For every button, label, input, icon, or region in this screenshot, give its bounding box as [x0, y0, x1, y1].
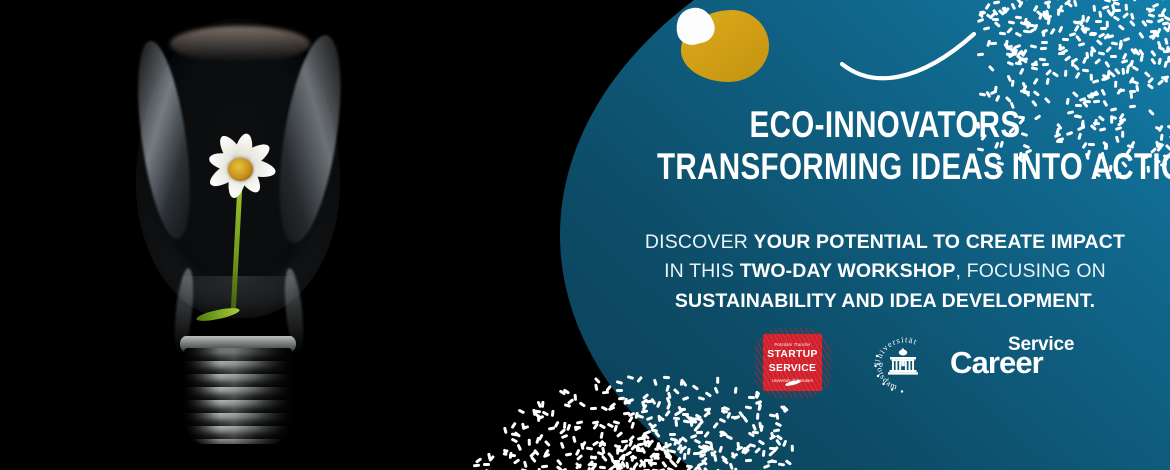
texture-dash — [993, 0, 1000, 4]
texture-dash — [1164, 37, 1168, 44]
headline-line-1: ECO-INNOVATORS — [657, 104, 1113, 146]
texture-dash — [1114, 67, 1120, 74]
texture-dash — [1132, 79, 1139, 84]
university-potsdam-seal: Universität Potsdam — [868, 328, 938, 398]
texture-dash — [1084, 27, 1088, 34]
texture-dash — [1007, 74, 1012, 81]
texture-dash — [1100, 89, 1105, 96]
subtext-line-2: IN THIS TWO-DAY WORKSHOP, FOCUSING ON — [600, 257, 1170, 286]
startup-service-logo: Potsdam Transfer STARTUP SERVICE Univers… — [755, 328, 831, 398]
texture-dash — [1053, 0, 1060, 1]
texture-dash — [616, 389, 623, 392]
texture-dash — [985, 3, 991, 10]
startup-logo-top-line: Potsdam Transfer — [763, 342, 822, 347]
headline-block: ECO-INNOVATORS TRANSFORMING IDEAS INTO A… — [600, 104, 1170, 188]
texture-dash — [1092, 92, 1099, 96]
texture-dash — [1157, 40, 1162, 47]
texture-dash — [1052, 71, 1059, 77]
texture-dash — [1073, 0, 1077, 7]
texture-dash — [1010, 3, 1015, 10]
texture-dash — [1124, 4, 1127, 11]
texture-dash — [1099, 11, 1103, 18]
promo-banner: ECO-INNOVATORS TRANSFORMING IDEAS INTO A… — [0, 0, 1170, 470]
texture-dash — [1078, 42, 1085, 46]
texture-dash — [995, 94, 1000, 101]
texture-dash — [1041, 41, 1048, 44]
texture-dash — [1163, 60, 1167, 67]
texture-dash — [1151, 33, 1155, 40]
texture-dash — [1147, 13, 1154, 17]
texture-dash — [1015, 16, 1022, 19]
texture-dash — [1165, 45, 1168, 52]
texture-dash — [1109, 71, 1116, 78]
texture-dash — [541, 464, 548, 467]
texture-dash — [1042, 63, 1049, 66]
texture-dash — [758, 403, 761, 410]
texture-dash — [990, 42, 997, 45]
subtext-line-3: SUSTAINABILITY AND IDEA DEVELOPMENT. — [600, 287, 1170, 316]
texture-dash — [1064, 69, 1067, 76]
texture-dash — [1138, 31, 1144, 38]
texture-dash — [1147, 77, 1154, 84]
texture-dash — [663, 375, 670, 378]
texture-dash — [683, 452, 686, 459]
subtext-line-1: DISCOVER YOUR POTENTIAL TO CREATE IMPACT — [600, 228, 1170, 257]
texture-dash — [1114, 9, 1121, 12]
texture-dash — [1090, 74, 1093, 81]
texture-dash — [1085, 16, 1090, 23]
subtext-l1-regular: DISCOVER — [645, 231, 754, 253]
lightbulb-illustration — [118, 18, 358, 448]
subtext-block: DISCOVER YOUR POTENTIAL TO CREATE IMPACT… — [600, 228, 1170, 316]
texture-dash — [745, 405, 752, 409]
texture-dash — [733, 386, 736, 393]
texture-dash — [1130, 0, 1137, 2]
texture-dash — [1026, 21, 1029, 28]
startup-logo-main-line-1: STARTUP — [763, 349, 822, 361]
logo-row: Potsdam Transfer STARTUP SERVICE Univers… — [745, 326, 1105, 400]
texture-dash — [696, 430, 703, 433]
texture-dash — [639, 437, 646, 440]
startup-logo-card: Potsdam Transfer STARTUP SERVICE Univers… — [763, 334, 822, 391]
texture-dash — [1094, 58, 1101, 65]
texture-dash — [1049, 27, 1055, 34]
career-service-logo: Service Career — [950, 332, 1105, 388]
texture-dash — [977, 53, 984, 56]
texture-dash — [1157, 57, 1161, 64]
texture-dash — [1158, 14, 1165, 17]
texture-dash — [1073, 24, 1079, 31]
texture-dash — [1093, 4, 1096, 11]
subtext-l2-tail: , FOCUSING ON — [956, 260, 1106, 282]
texture-dash — [1122, 12, 1129, 19]
texture-dash — [1081, 57, 1086, 64]
texture-dash — [1151, 49, 1157, 56]
texture-dash — [1075, 72, 1081, 79]
texture-dash — [977, 17, 984, 22]
texture-dash — [1100, 27, 1107, 30]
texture-dash — [1131, 12, 1135, 19]
texture-dash — [1044, 97, 1051, 104]
texture-dash — [1072, 91, 1079, 98]
texture-dash — [1113, 15, 1120, 21]
texture-dash — [1007, 61, 1014, 66]
texture-dash — [999, 32, 1006, 36]
career-service-word-main: Career — [950, 345, 1043, 381]
texture-dash — [1118, 24, 1125, 30]
subtext-l1-bold: YOUR POTENTIAL TO CREATE IMPACT — [754, 231, 1126, 253]
texture-dash — [1090, 32, 1097, 35]
texture-dash — [988, 65, 995, 72]
subtext-l2-bold: TWO-DAY WORKSHOP — [740, 260, 956, 282]
texture-dash — [994, 21, 1001, 28]
texture-dash — [483, 463, 490, 466]
texture-dash — [1146, 20, 1153, 24]
texture-dash — [1152, 3, 1159, 8]
texture-dash — [1074, 64, 1081, 71]
texture-dash — [1093, 99, 1100, 102]
texture-dash — [1014, 31, 1021, 36]
texture-dash — [1095, 19, 1102, 22]
texture-dash — [1018, 67, 1024, 74]
texture-dash — [1114, 80, 1117, 87]
subtext-l2-regular: IN THIS — [664, 260, 740, 282]
texture-dash — [716, 377, 719, 384]
texture-dash — [1046, 78, 1050, 85]
texture-dash — [1122, 68, 1125, 75]
texture-dash — [990, 90, 997, 95]
texture-dash — [1157, 79, 1164, 85]
texture-dash — [1040, 47, 1047, 50]
texture-dash — [551, 409, 554, 416]
texture-dash — [1014, 44, 1021, 49]
bulb-glass-highlight — [170, 26, 310, 62]
texture-dash — [1123, 37, 1130, 42]
texture-dash — [1023, 30, 1030, 34]
texture-dash — [1033, 90, 1040, 96]
headline-line-2: TRANSFORMING IDEAS INTO ACTION — [657, 146, 1113, 188]
texture-dash — [1057, 9, 1060, 16]
texture-dash — [1058, 52, 1065, 55]
texture-dash — [791, 445, 794, 452]
texture-dash — [1042, 29, 1045, 36]
texture-dash — [1150, 57, 1156, 64]
texture-dash — [1008, 21, 1015, 25]
texture-dash — [1125, 66, 1129, 73]
texture-dash — [1006, 27, 1013, 34]
texture-dash — [1111, 42, 1118, 46]
white-curve-swoosh — [838, 28, 978, 88]
bulb-screw-base — [184, 348, 292, 444]
texture-dash — [528, 439, 531, 446]
texture-dash — [1110, 55, 1117, 58]
texture-dash — [1058, 25, 1063, 32]
texture-dash — [537, 415, 540, 422]
texture-dash — [1121, 59, 1128, 63]
texture-dash — [682, 413, 689, 416]
texture-dash — [1104, 61, 1110, 68]
texture-dash — [1129, 20, 1136, 27]
texture-dash — [1039, 58, 1046, 61]
texture-dash — [983, 27, 990, 31]
texture-dash — [1098, 51, 1105, 55]
texture-dash — [1096, 39, 1103, 46]
texture-dash — [1136, 85, 1140, 92]
texture-dash — [1062, 38, 1069, 41]
seal-building-emblem — [888, 349, 918, 375]
texture-dash — [590, 407, 597, 410]
texture-dash — [1105, 46, 1112, 53]
texture-dash — [1132, 65, 1139, 71]
texture-dash — [1082, 69, 1089, 72]
texture-dash — [1029, 44, 1036, 48]
texture-dash — [979, 92, 986, 96]
startup-logo-main-line-2: SERVICE — [763, 363, 822, 375]
texture-dash — [1045, 69, 1052, 76]
texture-dash — [992, 17, 999, 20]
texture-dash — [1145, 7, 1152, 11]
flower-center — [228, 158, 253, 181]
texture-dash — [1071, 58, 1078, 64]
texture-dash — [669, 433, 676, 436]
texture-dash — [1032, 77, 1038, 84]
texture-dash — [1076, 35, 1082, 42]
subtext-l3-bold: SUSTAINABILITY AND IDEA DEVELOPMENT. — [675, 290, 1095, 312]
texture-dash — [1144, 71, 1151, 78]
flower-head — [196, 130, 284, 208]
